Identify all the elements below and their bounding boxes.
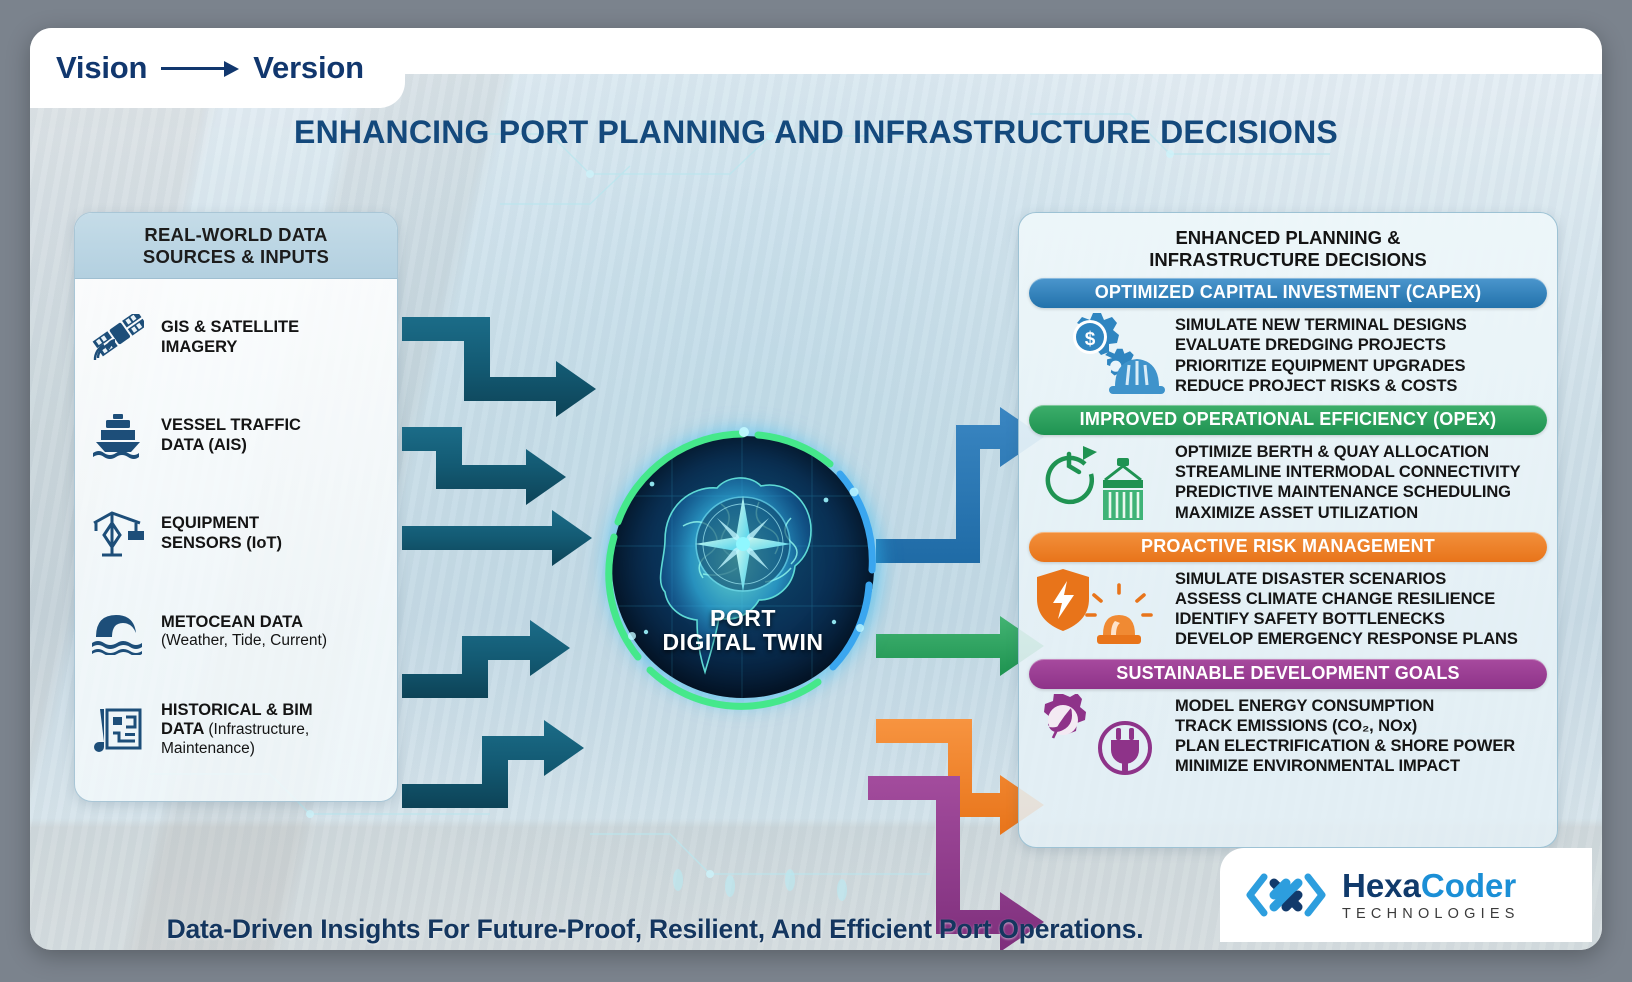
item-title: METOCEAN DATA bbox=[161, 613, 327, 632]
brand-tagline: TECHNOLOGIES bbox=[1342, 906, 1520, 922]
list-item[interactable]: HISTORICAL & BIM DATA (Infrastructure, M… bbox=[87, 681, 389, 779]
list-item-label: VESSEL TRAFFIC DATA (AIS) bbox=[161, 416, 301, 455]
stage-background: ENHANCING PORT PLANNING AND INFRASTRUCTU… bbox=[30, 74, 1602, 950]
list-item[interactable]: METOCEAN DATA (Weather, Tide, Current) bbox=[87, 583, 389, 681]
svg-text:$: $ bbox=[1085, 329, 1096, 350]
risk-lines: SIMULATE DISASTER SCENARIOS ASSESS CLIMA… bbox=[1175, 567, 1518, 650]
wave-icon bbox=[87, 609, 149, 655]
footer-tagline: Data-Driven Insights For Future-Proof, R… bbox=[90, 914, 1220, 945]
data-sources-heading-line1: REAL-WORLD DATA bbox=[85, 224, 387, 246]
sdg-line-1: MODEL ENERGY CONSUMPTION bbox=[1175, 696, 1515, 716]
sdg-icons bbox=[1033, 694, 1169, 780]
sdg-line-4: MINIMIZE ENVIRONMENTAL IMPACT bbox=[1175, 756, 1515, 776]
port-digital-twin-hub[interactable]: PORT DIGITAL TWIN bbox=[598, 422, 888, 712]
logo-word-vision: Vision bbox=[56, 50, 147, 86]
list-item[interactable]: EQUIPMENT SENSORS (IoT) bbox=[87, 485, 389, 583]
capex-lines: SIMULATE NEW TERMINAL DESIGNS EVALUATE D… bbox=[1175, 313, 1467, 396]
hexacoder-brand-badge[interactable]: HexaCoder TECHNOLOGIES bbox=[1220, 848, 1592, 942]
arrow-right-icon bbox=[161, 60, 239, 76]
list-item-label: EQUIPMENT SENSORS (IoT) bbox=[161, 514, 282, 553]
container-icon bbox=[1103, 458, 1143, 520]
brand-name-part2: Coder bbox=[1421, 867, 1516, 904]
gear-leaf-icon bbox=[1044, 694, 1086, 738]
outcomes-heading-line2: INFRASTRUCTURE DECISIONS bbox=[1029, 249, 1547, 271]
brand-logo-bar[interactable]: Vision Version bbox=[30, 28, 405, 108]
list-item-label: GIS & SATELLITE IMAGERY bbox=[161, 318, 299, 357]
outcome-block-risk[interactable]: PROACTIVE RISK MANAGEMENT bbox=[1029, 532, 1547, 653]
item-title2: DATA bbox=[161, 720, 208, 738]
outcome-block-capex[interactable]: OPTIMIZED CAPITAL INVESTMENT (CAPEX) $ bbox=[1029, 278, 1547, 399]
capex-line-2: EVALUATE DREDGING PROJECTS bbox=[1175, 335, 1467, 355]
item-title2: DATA (AIS) bbox=[161, 436, 301, 455]
hub-label-line2: DIGITAL TWIN bbox=[612, 630, 874, 654]
plug-icon bbox=[1100, 723, 1150, 773]
ship-icon bbox=[87, 412, 149, 460]
sdg-line-3: PLAN ELECTRIFICATION & SHORE POWER bbox=[1175, 736, 1515, 756]
crane-icon bbox=[87, 509, 149, 559]
capex-line-1: SIMULATE NEW TERMINAL DESIGNS bbox=[1175, 315, 1467, 335]
clock-arrowhead-icon bbox=[1083, 446, 1097, 460]
item-title2: IMAGERY bbox=[161, 338, 299, 357]
risk-line-3: IDENTIFY SAFETY BOTTLENECKS bbox=[1175, 609, 1518, 629]
sdg-lines: MODEL ENERGY CONSUMPTION TRACK EMISSIONS… bbox=[1175, 694, 1515, 777]
outcome-block-sdg[interactable]: SUSTAINABLE DEVELOPMENT GOALS bbox=[1029, 659, 1547, 780]
satellite-icon bbox=[87, 314, 149, 362]
opex-icons bbox=[1033, 440, 1169, 526]
logo-word-version: Version bbox=[253, 50, 364, 86]
risk-line-4: DEVELOP EMERGENCY RESPONSE PLANS bbox=[1175, 629, 1518, 649]
siren-icon bbox=[1087, 585, 1151, 644]
item-title: EQUIPMENT bbox=[161, 514, 282, 533]
capex-line-3: PRIORITIZE EQUIPMENT UPGRADES bbox=[1175, 356, 1467, 376]
outcome-block-opex[interactable]: IMPROVED OPERATIONAL EFFICIENCY (OPEX) bbox=[1029, 405, 1547, 526]
shield-bolt-icon bbox=[1037, 569, 1089, 631]
data-sources-heading-line2: SOURCES & INPUTS bbox=[85, 246, 387, 268]
opex-line-2: STREAMLINE INTERMODAL CONNECTIVITY bbox=[1175, 462, 1521, 482]
opex-line-3: PREDICTIVE MAINTENANCE SCHEDULING bbox=[1175, 482, 1521, 502]
risk-line-1: SIMULATE DISASTER SCENARIOS bbox=[1175, 569, 1518, 589]
page-title: ENHANCING PORT PLANNING AND INFRASTRUCTU… bbox=[294, 114, 1338, 150]
item-title: HISTORICAL & BIM bbox=[161, 701, 389, 720]
outcomes-panel: ENHANCED PLANNING & INFRASTRUCTURE DECIS… bbox=[1018, 212, 1558, 848]
opex-line-1: OPTIMIZE BERTH & QUAY ALLOCATION bbox=[1175, 442, 1521, 462]
capex-icons: $ bbox=[1033, 313, 1169, 399]
hub-label-line1: PORT bbox=[612, 606, 874, 630]
item-sub: (Weather, Tide, Current) bbox=[161, 632, 327, 650]
hexacoder-logo-icon bbox=[1244, 865, 1328, 925]
data-sources-list: GIS & SATELLITE IMAGERY bbox=[75, 279, 397, 785]
opex-lines: OPTIMIZE BERTH & QUAY ALLOCATION STREAML… bbox=[1175, 440, 1521, 523]
data-sources-heading: REAL-WORLD DATA SOURCES & INPUTS bbox=[75, 213, 397, 279]
outcome-pill-opex: IMPROVED OPERATIONAL EFFICIENCY (OPEX) bbox=[1029, 405, 1547, 435]
risk-icons bbox=[1033, 567, 1169, 653]
blueprint-icon bbox=[87, 705, 149, 755]
item-title: GIS & SATELLITE bbox=[161, 318, 299, 337]
list-item[interactable]: VESSEL TRAFFIC DATA (AIS) bbox=[87, 387, 389, 485]
brand-name-part1: Hexa bbox=[1342, 867, 1421, 904]
outcomes-heading: ENHANCED PLANNING & INFRASTRUCTURE DECIS… bbox=[1029, 221, 1547, 278]
hub-ring bbox=[598, 422, 888, 712]
item-title: VESSEL TRAFFIC bbox=[161, 416, 301, 435]
outcomes-heading-line1: ENHANCED PLANNING & bbox=[1029, 227, 1547, 249]
item-title2: SENSORS (IoT) bbox=[161, 534, 282, 553]
capex-line-4: REDUCE PROJECT RISKS & COSTS bbox=[1175, 376, 1467, 396]
clock-arrow-icon bbox=[1048, 454, 1092, 502]
brand-name: HexaCoder bbox=[1342, 869, 1520, 902]
outcome-pill-sdg: SUSTAINABLE DEVELOPMENT GOALS bbox=[1029, 659, 1547, 689]
opex-line-4: MAXIMIZE ASSET UTILIZATION bbox=[1175, 503, 1521, 523]
list-item-label: HISTORICAL & BIM DATA (Infrastructure, M… bbox=[161, 701, 389, 758]
hub-label: PORT DIGITAL TWIN bbox=[612, 606, 874, 654]
data-sources-panel: REAL-WORLD DATA SOURCES & INPUTS bbox=[74, 212, 398, 802]
outcome-pill-capex: OPTIMIZED CAPITAL INVESTMENT (CAPEX) bbox=[1029, 278, 1547, 308]
outcome-pill-risk: PROACTIVE RISK MANAGEMENT bbox=[1029, 532, 1547, 562]
list-item-label: METOCEAN DATA (Weather, Tide, Current) bbox=[161, 613, 327, 651]
infographic-card: ENHANCING PORT PLANNING AND INFRASTRUCTU… bbox=[30, 28, 1602, 950]
risk-line-2: ASSESS CLIMATE CHANGE RESILIENCE bbox=[1175, 589, 1518, 609]
sdg-line-2: TRACK EMISSIONS (CO₂, NOx) bbox=[1175, 716, 1515, 736]
list-item[interactable]: GIS & SATELLITE IMAGERY bbox=[87, 289, 389, 387]
